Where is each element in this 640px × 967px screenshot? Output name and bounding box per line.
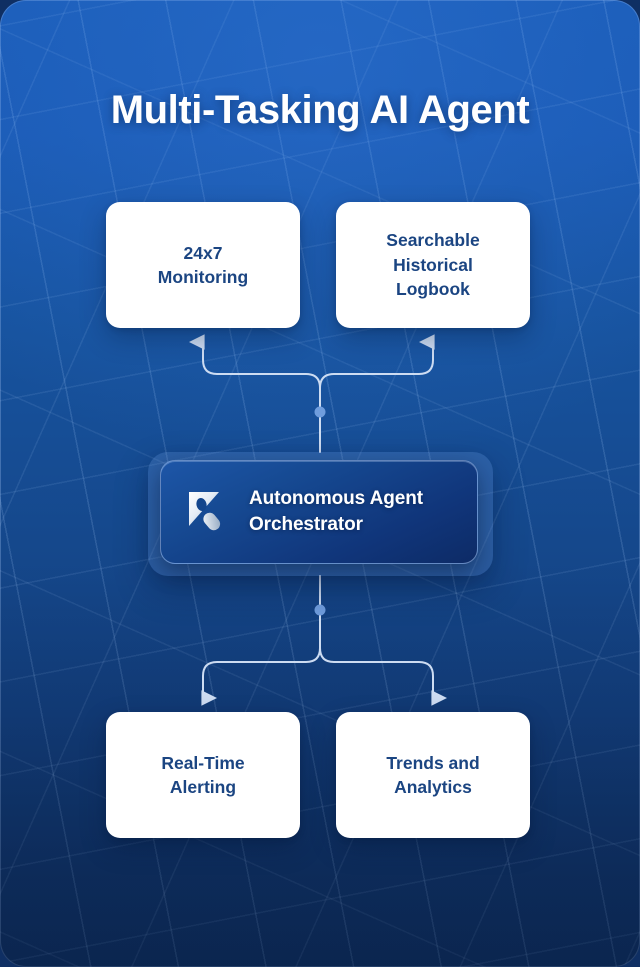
agent-orchestrator-logo-icon <box>183 488 231 536</box>
edge-to-card-alerting <box>203 610 320 698</box>
card-line-3: Logbook <box>396 279 470 299</box>
card-line-2: Analytics <box>394 777 472 797</box>
card-line-1: Trends and <box>386 753 479 773</box>
card-line-2: Alerting <box>170 777 236 797</box>
card-line-2: Monitoring <box>158 267 248 287</box>
card-line-1: Real-Time <box>161 753 244 773</box>
card-searchable-historical-logbook[interactable]: Searchable Historical Logbook <box>336 202 530 328</box>
card-text: Searchable Historical Logbook <box>386 228 479 302</box>
hub-label-line-2: Orchestrator <box>249 514 363 535</box>
card-trends-and-analytics[interactable]: Trends and Analytics <box>336 712 530 838</box>
card-text: Real-Time Alerting <box>161 751 244 800</box>
card-text: Trends and Analytics <box>386 751 479 800</box>
card-line-2: Historical <box>393 255 473 275</box>
edge-to-card-monitoring <box>203 342 320 412</box>
junction-dot-top <box>315 407 326 418</box>
page-title: Multi-Tasking AI Agent <box>0 88 640 133</box>
infographic-canvas: Multi-Tasking AI Agent <box>0 0 640 967</box>
hub-label-line-1: Autonomous Agent <box>249 488 423 509</box>
card-real-time-alerting[interactable]: Real-Time Alerting <box>106 712 300 838</box>
junction-dot-bottom <box>315 605 326 616</box>
card-text: 24x7 Monitoring <box>158 241 248 290</box>
edge-to-card-analytics <box>320 610 433 698</box>
card-line-1: 24x7 <box>184 243 223 263</box>
card-24x7-monitoring[interactable]: 24x7 Monitoring <box>106 202 300 328</box>
edge-to-card-logbook <box>320 342 433 412</box>
hub-node-autonomous-agent-orchestrator[interactable]: Autonomous Agent Orchestrator <box>160 460 478 564</box>
hub-label: Autonomous Agent Orchestrator <box>249 486 423 538</box>
card-line-1: Searchable <box>386 230 479 250</box>
